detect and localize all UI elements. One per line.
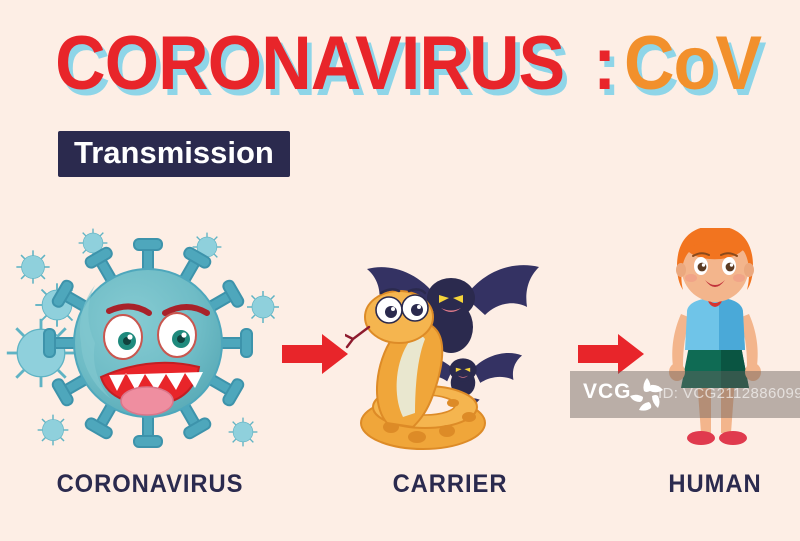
hand-left [669, 363, 685, 381]
hand-right [745, 363, 761, 381]
watermark-logo: VCG [583, 381, 632, 402]
coronavirus-transmission-infographic: CORONAVIRUS:CoV Transmission [0, 0, 800, 541]
arrow-carrier-to-human [578, 334, 644, 374]
shirt-shade [719, 298, 745, 350]
snake-tongue [345, 327, 369, 347]
skirt-shade [721, 346, 749, 388]
shoe-right [719, 431, 747, 445]
coronavirus-particle-icon [5, 225, 280, 460]
watermark-id: ID: VCG211288609966 [658, 386, 800, 401]
stage-label-coronavirus: CORONAVIRUS [27, 470, 274, 499]
title-abbreviation: CoV [624, 26, 761, 102]
virus-tongue [121, 387, 173, 415]
snake-and-bats-icon [345, 255, 560, 460]
title-separator: : [593, 26, 615, 102]
page-title: CORONAVIRUS:CoV [0, 26, 800, 102]
shoe-left [687, 431, 715, 445]
subtitle-badge: Transmission [58, 131, 290, 177]
arrow-virus-to-carrier [282, 334, 348, 374]
title-main-word: CORONAVIRUS [55, 26, 564, 102]
right-arrow-icon [578, 334, 644, 374]
coronavirus-illustration [5, 225, 280, 460]
stage-label-human: HUMAN [634, 470, 796, 499]
girl-character-icon [645, 228, 785, 460]
human-illustration [645, 228, 785, 460]
carrier-illustration [345, 255, 560, 460]
right-arrow-icon [282, 334, 348, 374]
stage-label-carrier: CARRIER [350, 470, 550, 499]
subtitle-label: Transmission [74, 137, 274, 168]
